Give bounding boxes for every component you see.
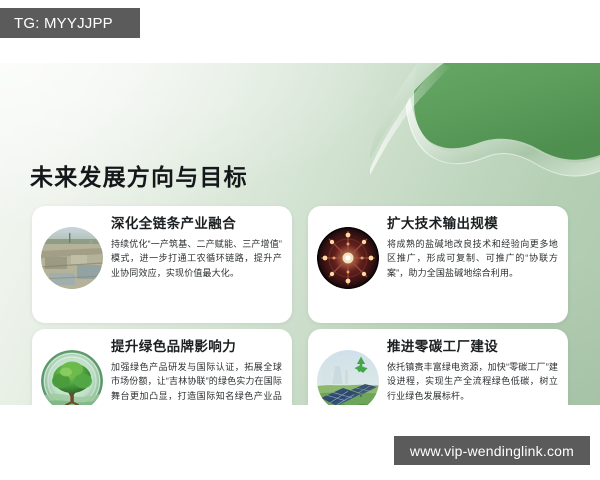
slide-title: 未来发展方向与目标 — [30, 158, 248, 192]
silk-drape-decoration — [370, 63, 600, 183]
card-body: 扩大技术输出规模 将成熟的盐碱地改良技术和经验向更多地区推广，形成可复制、可推广… — [387, 215, 558, 281]
green-tree-rings-icon — [41, 350, 103, 405]
card-body: 提升绿色品牌影响力 加强绿色产品研发与国际认证，拓展全球市场份额，让“吉林协联”… — [111, 338, 282, 405]
red-radial-turbine-icon — [317, 227, 379, 289]
card-heading: 扩大技术输出规模 — [387, 216, 558, 233]
slide-panel: 未来发展方向与目标 — [0, 63, 600, 405]
card-heading: 推进零碳工厂建设 — [387, 339, 558, 356]
aerial-industrial-site-icon — [41, 227, 103, 289]
card-text: 持续优化“一产筑基、二产赋能、三产增值”模式，进一步打通工农循环链路，提升产业协… — [111, 237, 282, 281]
card-text: 依托镇赉丰富绿电资源，加快“零碳工厂”建设进程，实现生产全流程绿色低碳，树立行业… — [387, 360, 558, 404]
site-watermark: www.vip-wendinglink.com — [394, 436, 590, 465]
card-body: 推进零碳工厂建设 依托镇赉丰富绿电资源，加快“零碳工厂”建设进程，实现生产全流程… — [387, 338, 558, 404]
card-text: 将成熟的盐碱地改良技术和经验向更多地区推广，形成可复制、可推广的“协联方案”，助… — [387, 237, 558, 281]
feature-card[interactable]: 深化全链条产业融合 持续优化“一产筑基、二产赋能、三产增值”模式，进一步打通工农… — [32, 206, 292, 323]
tg-channel-badge: TG: MYYJJPP — [0, 8, 140, 38]
card-heading: 提升绿色品牌影响力 — [111, 339, 282, 356]
feature-card[interactable]: 推进零碳工厂建设 依托镇赉丰富绿电资源，加快“零碳工厂”建设进程，实现生产全流程… — [308, 329, 568, 405]
feature-card[interactable]: 提升绿色品牌影响力 加强绿色产品研发与国际认证，拓展全球市场份额，让“吉林协联”… — [32, 329, 292, 405]
feature-card[interactable]: 扩大技术输出规模 将成熟的盐碱地改良技术和经验向更多地区推广，形成可复制、可推广… — [308, 206, 568, 323]
card-heading: 深化全链条产业融合 — [111, 216, 282, 233]
card-text: 加强绿色产品研发与国际认证，拓展全球市场份额，让“吉林协联”的绿色实力在国际舞台… — [111, 360, 282, 405]
solar-panel-recycling-icon — [317, 350, 379, 405]
feature-card-grid: 深化全链条产业融合 持续优化“一产筑基、二产赋能、三产增值”模式，进一步打通工农… — [32, 206, 568, 405]
card-body: 深化全链条产业融合 持续优化“一产筑基、二产赋能、三产增值”模式，进一步打通工农… — [111, 215, 282, 281]
